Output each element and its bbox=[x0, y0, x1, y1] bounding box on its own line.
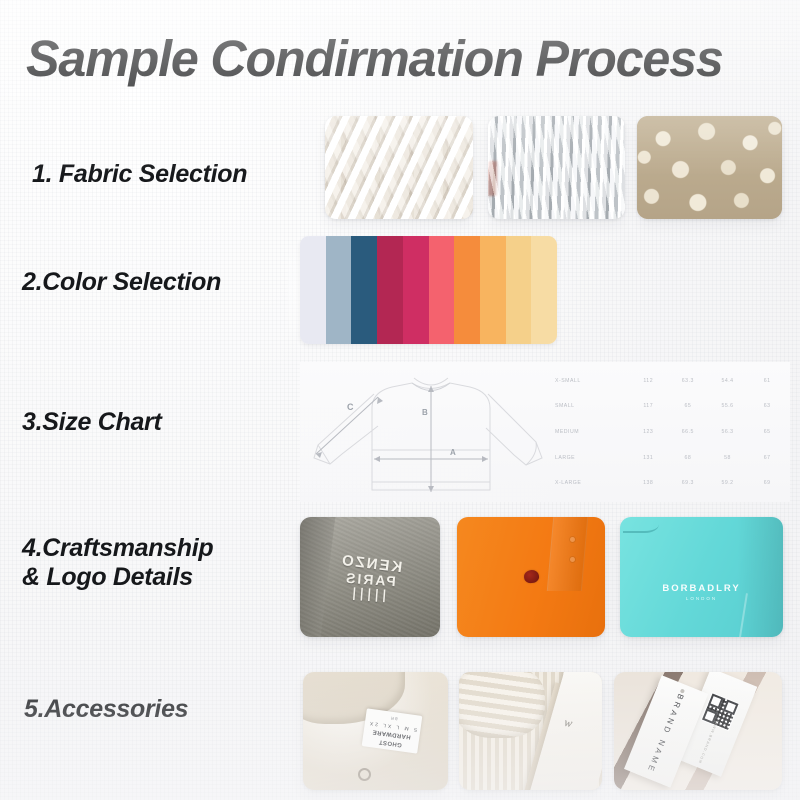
size-name-cell: SMALL bbox=[555, 403, 628, 409]
size-name-cell: MEDIUM bbox=[555, 429, 628, 435]
fabric-swatch-boucle[interactable] bbox=[637, 116, 782, 219]
color-swatch-3[interactable] bbox=[351, 236, 377, 344]
craft-photo-embroidered-logo[interactable]: KENZO PARIS ∣∣∣∣∣ bbox=[300, 517, 440, 637]
drawcord-eyelet-icon bbox=[358, 768, 371, 781]
size-table-row: SMALL1176555.663 bbox=[555, 403, 787, 409]
page-title: Sample Condirmation Process bbox=[26, 33, 775, 84]
color-swatch-2[interactable] bbox=[326, 236, 352, 344]
color-swatch-5[interactable] bbox=[403, 236, 429, 344]
hang-tag-scene: WWW.BRAND.COM BRAND NAME bbox=[614, 672, 782, 790]
size-value-cell: 65 bbox=[668, 403, 708, 409]
qr-finder-top-right bbox=[723, 700, 739, 716]
ribbed-knit-backdrop: THE LOOK BOOK w bbox=[459, 672, 602, 790]
kenzo-paris-embroidery: KENZO PARIS ∣∣∣∣∣ bbox=[337, 555, 402, 604]
size-value-cell: 61 bbox=[747, 378, 787, 384]
craft-photo-orange-polo[interactable] bbox=[457, 517, 605, 637]
qr-code-icon bbox=[701, 692, 740, 731]
braided-knit-texture bbox=[325, 116, 473, 219]
qr-finder-top-left bbox=[709, 694, 725, 710]
red-accent-streak bbox=[488, 161, 497, 196]
polo-placket bbox=[546, 517, 587, 591]
color-swatch-9[interactable] bbox=[506, 236, 532, 344]
cream-hoodie-fabric: GHOST HARDWARE S M L XL 2X BR bbox=[303, 672, 448, 790]
size-value-cell: 58 bbox=[708, 455, 748, 461]
craftsmanship-line-2: & Logo Details bbox=[22, 563, 193, 591]
wavy-marbled-texture bbox=[488, 116, 625, 219]
boucle-popcorn-texture bbox=[637, 116, 782, 219]
turquoise-garment-fabric: BORBADLRY LONDON bbox=[620, 517, 783, 637]
size-value-cell: 123 bbox=[628, 429, 668, 435]
fabric-shadow bbox=[737, 517, 783, 637]
size-name-cell: X-LARGE bbox=[555, 480, 628, 486]
sweater-technical-drawing: A B C bbox=[300, 362, 560, 502]
fabric-fold bbox=[300, 517, 335, 637]
size-value-cell: 59.2 bbox=[708, 480, 748, 486]
size-value-cell: 55.6 bbox=[708, 403, 748, 409]
size-value-cell: 112 bbox=[628, 378, 668, 384]
fabric-swatch-braided-knit[interactable] bbox=[325, 116, 473, 219]
size-table-row: MEDIUM12366.556.365 bbox=[555, 429, 787, 435]
size-value-cell: 138 bbox=[628, 480, 668, 486]
care-label-brand-1: GHOST bbox=[378, 738, 402, 747]
accessory-photo-brand-name-tags[interactable]: WWW.BRAND.COM BRAND NAME bbox=[614, 672, 782, 790]
size-name-cell: X-SMALL bbox=[555, 378, 628, 384]
size-value-cell: 131 bbox=[628, 455, 668, 461]
accessory-photo-care-label[interactable]: GHOST HARDWARE S M L XL 2X BR bbox=[303, 672, 448, 790]
size-value-cell: 66.5 bbox=[668, 429, 708, 435]
brand-name-text: BRAND NAME bbox=[645, 693, 685, 776]
brand-print-line-1: BORBADLRY bbox=[662, 583, 740, 594]
hang-tag-small-text: WWW.BRAND.COM bbox=[698, 720, 719, 764]
color-swatch-6[interactable] bbox=[429, 236, 455, 344]
embroidery-rays: ∣∣∣∣∣ bbox=[337, 586, 400, 604]
step-label-fabric-selection: 1. Fabric Selection bbox=[32, 160, 247, 189]
brand-logo-print: BORBADLRY LONDON bbox=[662, 583, 740, 601]
size-value-cell: 68 bbox=[668, 455, 708, 461]
size-value-cell: 117 bbox=[628, 403, 668, 409]
color-swatch-7[interactable] bbox=[454, 236, 480, 344]
step-label-craftsmanship: 4.Craftsmanship & Logo Details bbox=[22, 534, 287, 592]
size-value-cell: 69 bbox=[747, 480, 787, 486]
color-palette-strip[interactable] bbox=[300, 236, 557, 344]
rolled-knit-coil bbox=[459, 672, 545, 738]
grey-garment-fabric: KENZO PARIS ∣∣∣∣∣ bbox=[300, 517, 440, 637]
signature-mark-icon: w bbox=[562, 714, 573, 730]
size-table-row: X-SMALL11263.354.461 bbox=[555, 378, 787, 384]
color-swatch-10[interactable] bbox=[531, 236, 557, 344]
garment-collar bbox=[623, 517, 659, 533]
craftsmanship-line-1: 4.Craftsmanship bbox=[22, 534, 213, 562]
orange-polo-fabric bbox=[457, 517, 605, 637]
step-label-accessories: 5.Accessories bbox=[24, 695, 188, 724]
size-value-cell: 69.3 bbox=[668, 480, 708, 486]
infographic-page: Sample Condirmation Process 1. Fabric Se… bbox=[0, 0, 800, 800]
measure-label-b: B bbox=[422, 408, 428, 417]
accessory-photo-hang-tags-knit[interactable]: THE LOOK BOOK w bbox=[459, 672, 602, 790]
size-measurement-table: X-SMALL11263.354.461SMALL1176555.663MEDI… bbox=[555, 368, 787, 496]
color-swatch-8[interactable] bbox=[480, 236, 506, 344]
fabric-swatch-wavy-marbled[interactable] bbox=[488, 116, 625, 219]
size-value-cell: 63 bbox=[747, 403, 787, 409]
size-chart-panel[interactable]: A B C X-SMALL11263.354.461SMALL1176555.6… bbox=[300, 362, 790, 502]
size-value-cell: 54.4 bbox=[708, 378, 748, 384]
size-table-row: LARGE131685867 bbox=[555, 455, 787, 461]
color-swatch-4[interactable] bbox=[377, 236, 403, 344]
step-label-color-selection: 2.Color Selection bbox=[22, 268, 221, 297]
size-value-cell: 56.3 bbox=[708, 429, 748, 435]
size-value-cell: 65 bbox=[747, 429, 787, 435]
measure-label-c: C bbox=[347, 402, 354, 412]
size-value-cell: 67 bbox=[747, 455, 787, 461]
color-swatch-1[interactable] bbox=[300, 236, 326, 344]
woven-care-label: GHOST HARDWARE S M L XL 2X BR bbox=[362, 708, 423, 753]
size-name-cell: LARGE bbox=[555, 455, 628, 461]
care-label-info: BR bbox=[390, 716, 398, 722]
measure-label-a: A bbox=[450, 448, 456, 457]
size-table-row: X-LARGE13869.359.269 bbox=[555, 480, 787, 486]
brand-print-line-2: LONDON bbox=[662, 596, 740, 601]
step-label-size-chart: 3.Size Chart bbox=[22, 408, 162, 437]
embroidered-emblem-icon bbox=[523, 569, 540, 584]
craft-photo-turquoise-brand-print[interactable]: BORBADLRY LONDON bbox=[620, 517, 783, 637]
size-value-cell: 63.3 bbox=[668, 378, 708, 384]
